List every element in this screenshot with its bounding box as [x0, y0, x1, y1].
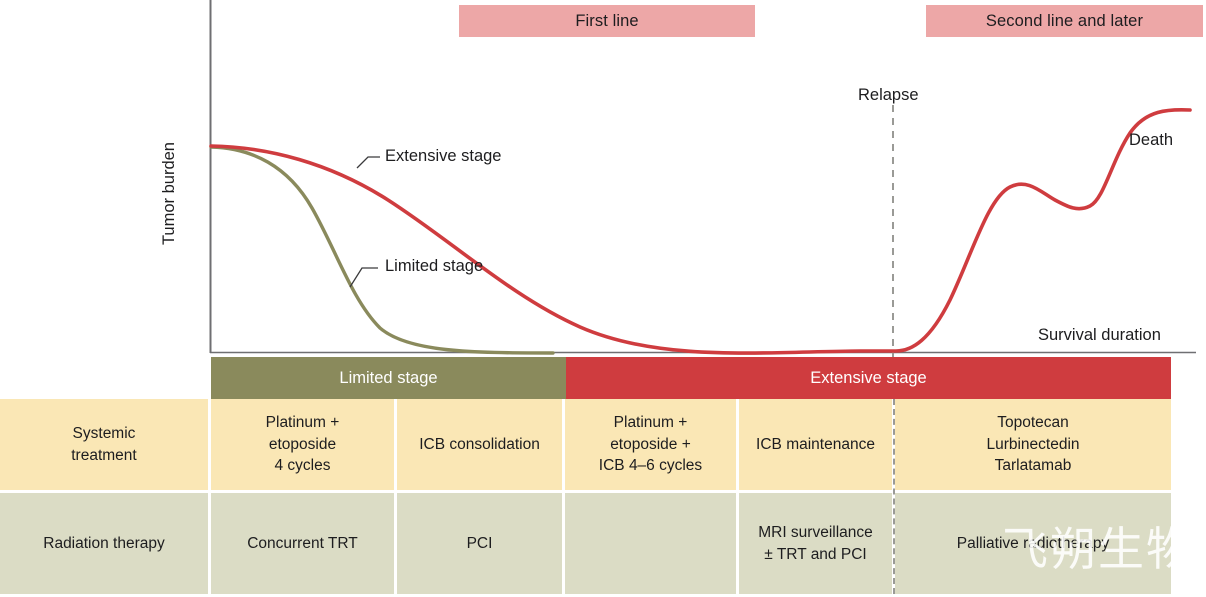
x-axis-label: Survival duration: [1038, 326, 1161, 345]
curve-label-extensive-stage: Extensive stage: [385, 147, 501, 166]
row-header-radiation-therapy: Radiation therapy: [0, 493, 211, 594]
stage-segment-limited: Limited stage: [211, 357, 566, 399]
curve-extensive-stage: [211, 110, 1190, 353]
cell-radiation-pci: PCI: [397, 493, 565, 594]
relapse-marker-line-table: [893, 399, 895, 594]
treatment-table: Systemic treatment Platinum + etoposide …: [0, 399, 1171, 594]
cell-radiation-empty: [565, 493, 739, 594]
table-row-radiation-therapy: Radiation therapy Concurrent TRT PCI MRI…: [0, 493, 1171, 594]
figure-root: First line Second line and later Extensi…: [0, 0, 1206, 597]
table-row-systemic-treatment: Systemic treatment Platinum + etoposide …: [0, 399, 1171, 493]
cell-radiation-mri-surveillance: MRI surveillance ± TRT and PCI: [739, 493, 895, 594]
cell-systemic-icb-maintenance: ICB maintenance: [739, 399, 895, 490]
cell-systemic-limited-induction: Platinum + etoposide 4 cycles: [211, 399, 397, 490]
cell-systemic-icb-consolidation: ICB consolidation: [397, 399, 565, 490]
y-axis-label: Tumor burden: [160, 142, 182, 245]
tumor-burden-plot: Extensive stage Limited stage Relapse De…: [0, 0, 1206, 400]
curve-limited-stage: [211, 147, 553, 353]
cell-systemic-extensive-induction: Platinum + etoposide + ICB 4–6 cycles: [565, 399, 739, 490]
leader-line-extensive: [357, 157, 380, 168]
leader-line-limited: [350, 268, 378, 287]
cell-radiation-palliative: Palliative radiotherapy: [895, 493, 1171, 594]
cell-systemic-second-line: Topotecan Lurbinectedin Tarlatamab: [895, 399, 1171, 490]
stage-segment-extensive: Extensive stage: [566, 357, 1171, 399]
row-header-systemic-treatment: Systemic treatment: [0, 399, 211, 490]
death-label: Death: [1129, 131, 1173, 150]
relapse-label: Relapse: [858, 86, 919, 105]
stage-bar: Limited stage Extensive stage: [211, 357, 1171, 399]
curve-label-limited-stage: Limited stage: [385, 257, 483, 276]
cell-radiation-concurrent-trt: Concurrent TRT: [211, 493, 397, 594]
